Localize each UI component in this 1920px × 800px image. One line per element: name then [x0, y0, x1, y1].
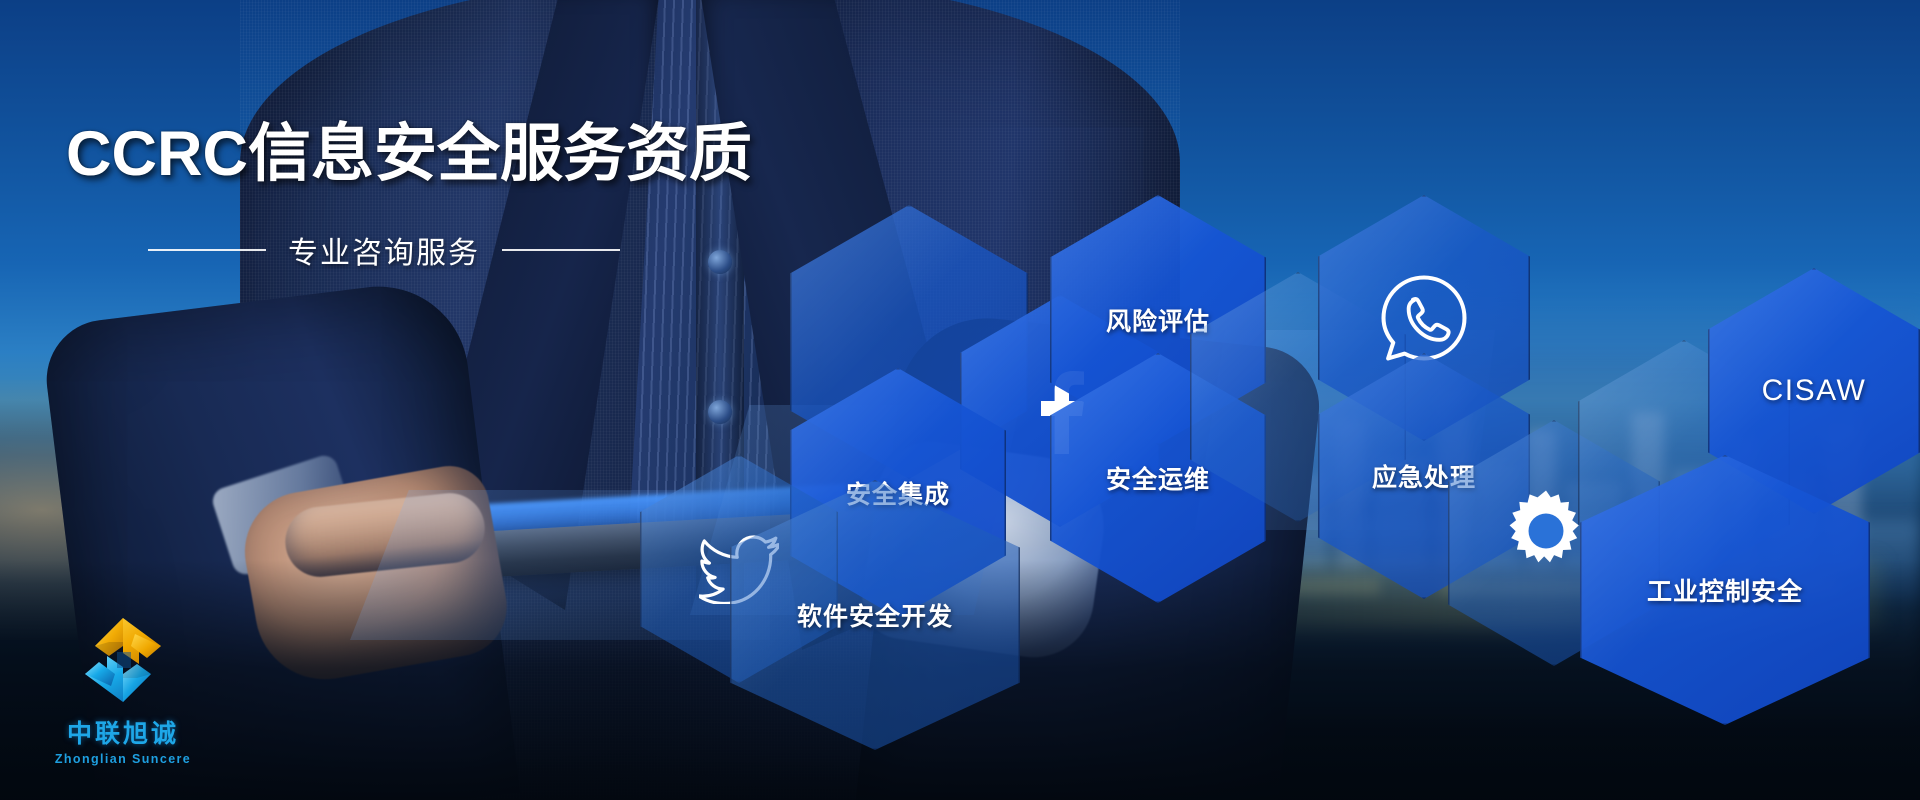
hexagon-cluster: 安全集成 软件安全开发 风险评估 安全运维	[0, 0, 1920, 800]
hex-label-industrial-control-security: 工业控制安全	[1647, 572, 1803, 608]
phone-chat-icon	[1378, 272, 1470, 364]
company-logo[interactable]: 中联旭诚 Zhonglian Suncere	[48, 612, 198, 766]
logo-name-cn: 中联旭诚	[48, 714, 198, 750]
logo-name-en: Zhonglian Suncere	[48, 752, 198, 766]
hex-label-security-ops: 安全运维	[1106, 460, 1210, 496]
hex-label-cisaw: CISAW	[1762, 374, 1867, 408]
ccrc-banner: CCRC信息安全服务资质 专业咨询服务 安全集成	[0, 0, 1920, 800]
hex-label-software-security-dev: 软件安全开发	[797, 597, 953, 633]
logo-mark-icon	[69, 612, 177, 708]
